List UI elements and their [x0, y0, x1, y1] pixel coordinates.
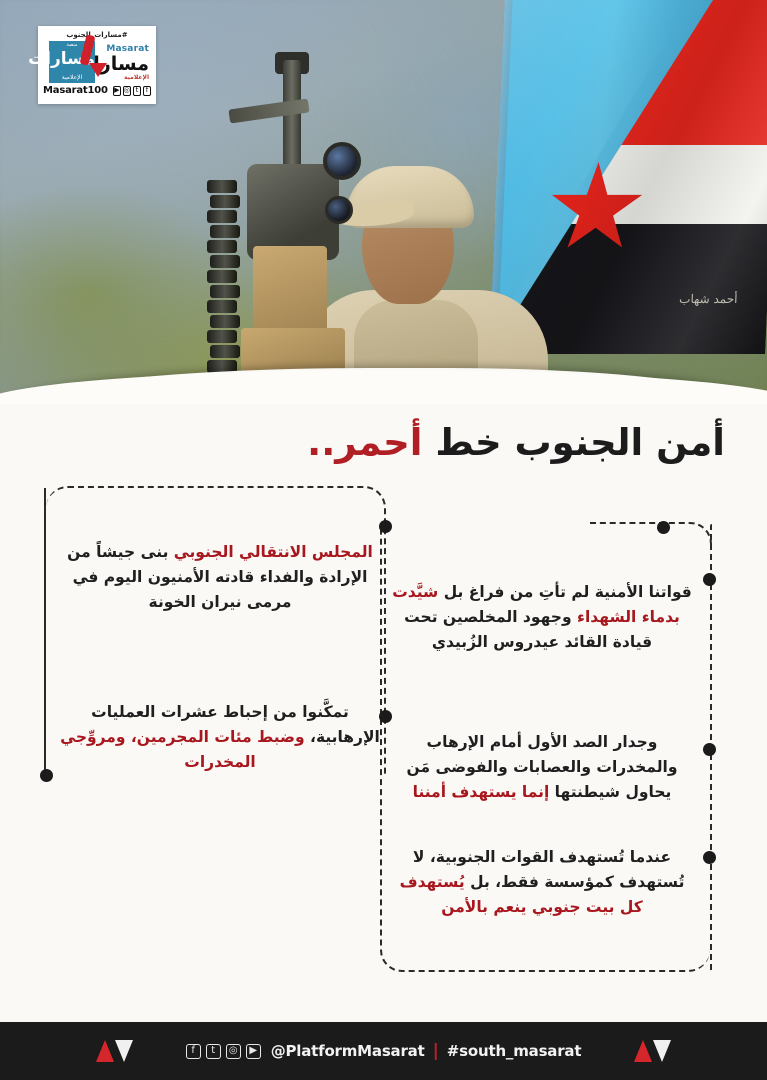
footer-handle[interactable]: @PlatformMasarat — [271, 1042, 425, 1060]
connector-dot-right-1 — [703, 573, 716, 586]
logo-red-triangle-icon — [89, 63, 107, 77]
ammo-link — [210, 195, 240, 208]
footer-mark-right — [634, 1040, 671, 1062]
twitter-icon[interactable]: t — [133, 86, 141, 96]
photo-credit: أحمد شهاب — [679, 292, 738, 306]
text-segment-2: وضبط مئات المجرمين، ومروِّجي المخدرات — [60, 728, 305, 771]
right-block-1: قواتنا الأمنية لم تأتِ من فراغ بل شيَّدت… — [392, 580, 692, 655]
logo-handle: Masarat100 — [43, 85, 108, 96]
page-title: أمن الجنوب خط أحمر.. — [0, 418, 725, 468]
ammo-link — [210, 345, 240, 358]
ammo-link — [207, 300, 237, 313]
ammo-link — [210, 285, 240, 298]
triangle-down-icon — [115, 1040, 133, 1062]
gun-secondary-optic-icon — [325, 196, 353, 224]
connector-dot-left-bottom — [40, 769, 53, 782]
logo-social-row: f t ◎ ▶ Masarat100 — [43, 85, 151, 96]
text-segment-2: إنما يستهدف أمننا — [413, 783, 550, 801]
ammo-link — [210, 315, 240, 328]
instagram-icon[interactable]: ◎ — [226, 1044, 241, 1059]
logo-mark: Masarat مسارات الإعلامية منصة مسارات الإ… — [43, 41, 151, 83]
gun-barrel — [283, 60, 301, 172]
ammo-link — [207, 210, 237, 223]
instagram-icon[interactable]: ◎ — [123, 86, 131, 96]
ammo-link — [210, 225, 240, 238]
footer-bar: f t ◎ ▶ @PlatformMasarat | #south_masara… — [0, 1022, 767, 1080]
footer-social-row: f t ◎ ▶ @PlatformMasarat | #south_masara… — [186, 1041, 582, 1061]
youtube-icon[interactable]: ▶ — [246, 1044, 261, 1059]
connector-dot-right-2 — [703, 743, 716, 756]
ammo-link — [207, 180, 237, 193]
right-block-2: وجدار الصد الأول أمام الإرهاب والمخدرات … — [392, 730, 692, 805]
left-block-2: تمكَّنوا من إحباط عشرات العمليات الإرهاب… — [60, 700, 380, 775]
right-block-3: عندما تُستهدف القوات الجنوبية، لا تُستهد… — [392, 845, 692, 920]
youtube-icon[interactable]: ▶ — [113, 86, 121, 96]
connector-dot-left-mid-right — [379, 710, 392, 723]
connector-dot-right-3 — [703, 851, 716, 864]
ammo-link — [207, 330, 237, 343]
ammo-link — [207, 270, 237, 283]
triangle-up-icon — [96, 1040, 114, 1062]
facebook-icon[interactable]: f — [143, 86, 151, 96]
machine-gun — [195, 60, 395, 400]
footer-separator: | — [433, 1041, 439, 1061]
gun-scope-icon — [323, 142, 361, 180]
infographic-poster: أحمد شهاب #مسارات_الجنوب Masarat — [0, 0, 767, 1080]
title-red-part: أحمر.. — [307, 421, 422, 464]
twitter-icon[interactable]: t — [206, 1044, 221, 1059]
footer-mark-left — [96, 1040, 133, 1062]
brand-logo[interactable]: #مسارات_الجنوب Masarat مسارات الإعلامية … — [38, 26, 156, 104]
title-black-part: أمن الجنوب خط — [422, 421, 725, 464]
connector-dot-left-top-right — [379, 520, 392, 533]
triangle-up-icon — [634, 1040, 652, 1062]
left-block-1: المجلس الانتقالي الجنوبي بنى جيشاً من ال… — [60, 540, 380, 615]
connector-dot-right-top — [657, 521, 670, 534]
ammo-link — [207, 240, 237, 253]
logo-tagline: #مسارات_الجنوب — [43, 30, 151, 40]
facebook-icon[interactable]: f — [186, 1044, 201, 1059]
footer-hashtag[interactable]: #south_masarat — [447, 1042, 582, 1060]
text-segment-1: قواتنا الأمنية لم تأتِ من فراغ بل — [438, 583, 692, 601]
triangle-down-icon — [653, 1040, 671, 1062]
ammo-link — [210, 255, 240, 268]
ammo-belt — [207, 180, 241, 400]
text-segment-1: المجلس الانتقالي الجنوبي — [174, 543, 373, 561]
